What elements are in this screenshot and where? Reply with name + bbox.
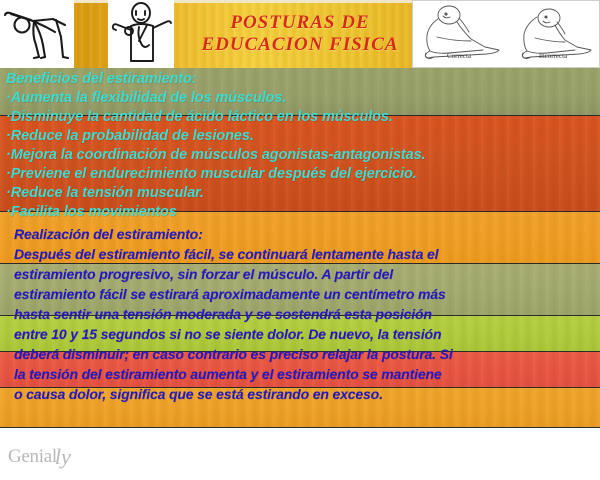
- watermark-tail: ly: [55, 444, 71, 470]
- arm-cross-drawing: [109, 1, 173, 67]
- watermark-text: Genial: [8, 446, 57, 468]
- procedure-line-3: estiramiento fácil se estirará aproximad…: [14, 286, 446, 302]
- benefit-item-2: ·Disminuye la cantidad de ácido láctico …: [6, 109, 393, 125]
- procedure-line-6: deberá disminuir; en caso contrario es p…: [14, 346, 453, 362]
- benefit-item-3: ·Reduce la probabilidad de lesiones.: [6, 128, 254, 144]
- procedure-line-2: estiramiento progresivo, sin forzar el m…: [14, 266, 393, 282]
- procedure-line-1: Después del estiramiento fácil, se conti…: [14, 246, 438, 262]
- caption-correcta: Correcta: [412, 52, 506, 66]
- title-line-1: POSTURAS DE: [230, 13, 369, 33]
- arm-cross-stretch-stick-figure: [108, 0, 174, 68]
- benefit-item-4: ·Mejora la coordinación de músculos agon…: [6, 147, 426, 163]
- benefit-item-1: ·Aumenta la flexibilidad de los músculos…: [6, 90, 286, 106]
- posture-captions: Correcta Incorrecta: [412, 52, 600, 66]
- benefits-heading: Beneficios del estiramiento:: [6, 71, 197, 87]
- footer-area: [0, 428, 600, 480]
- caption-incorrecta: Incorrecta: [506, 52, 600, 66]
- genially-watermark[interactable]: Genial ly: [8, 444, 71, 470]
- content-text-layer: Beneficios del estiramiento: ·Aumenta la…: [0, 68, 600, 428]
- slide-title: POSTURAS DE EDUCACION FISICA: [190, 0, 410, 68]
- title-line-2: EDUCACION FISICA: [201, 35, 398, 55]
- procedure-line-4: hasta sentir una tensión moderada y se s…: [14, 306, 432, 322]
- benefit-item-5: ·Previene el endurecimiento muscular des…: [6, 166, 417, 182]
- slide-canvas: POSTURAS DE EDUCACION FISICA: [0, 0, 600, 480]
- side-stretch-stick-figure: [0, 0, 74, 68]
- procedure-line-5: entre 10 y 15 segundos si no se siente d…: [14, 326, 441, 342]
- benefit-item-6: ·Reduce la tensión muscular.: [6, 185, 204, 201]
- benefit-item-7: ·Facilita los movimientos: [6, 204, 177, 220]
- side-stretch-drawing: [1, 1, 73, 67]
- procedure-heading: Realización del estiramiento:: [14, 226, 203, 242]
- procedure-line-7: la tensión del estiramiento aumenta y el…: [14, 366, 442, 382]
- procedure-line-8: o causa dolor, significa que se está est…: [14, 386, 383, 402]
